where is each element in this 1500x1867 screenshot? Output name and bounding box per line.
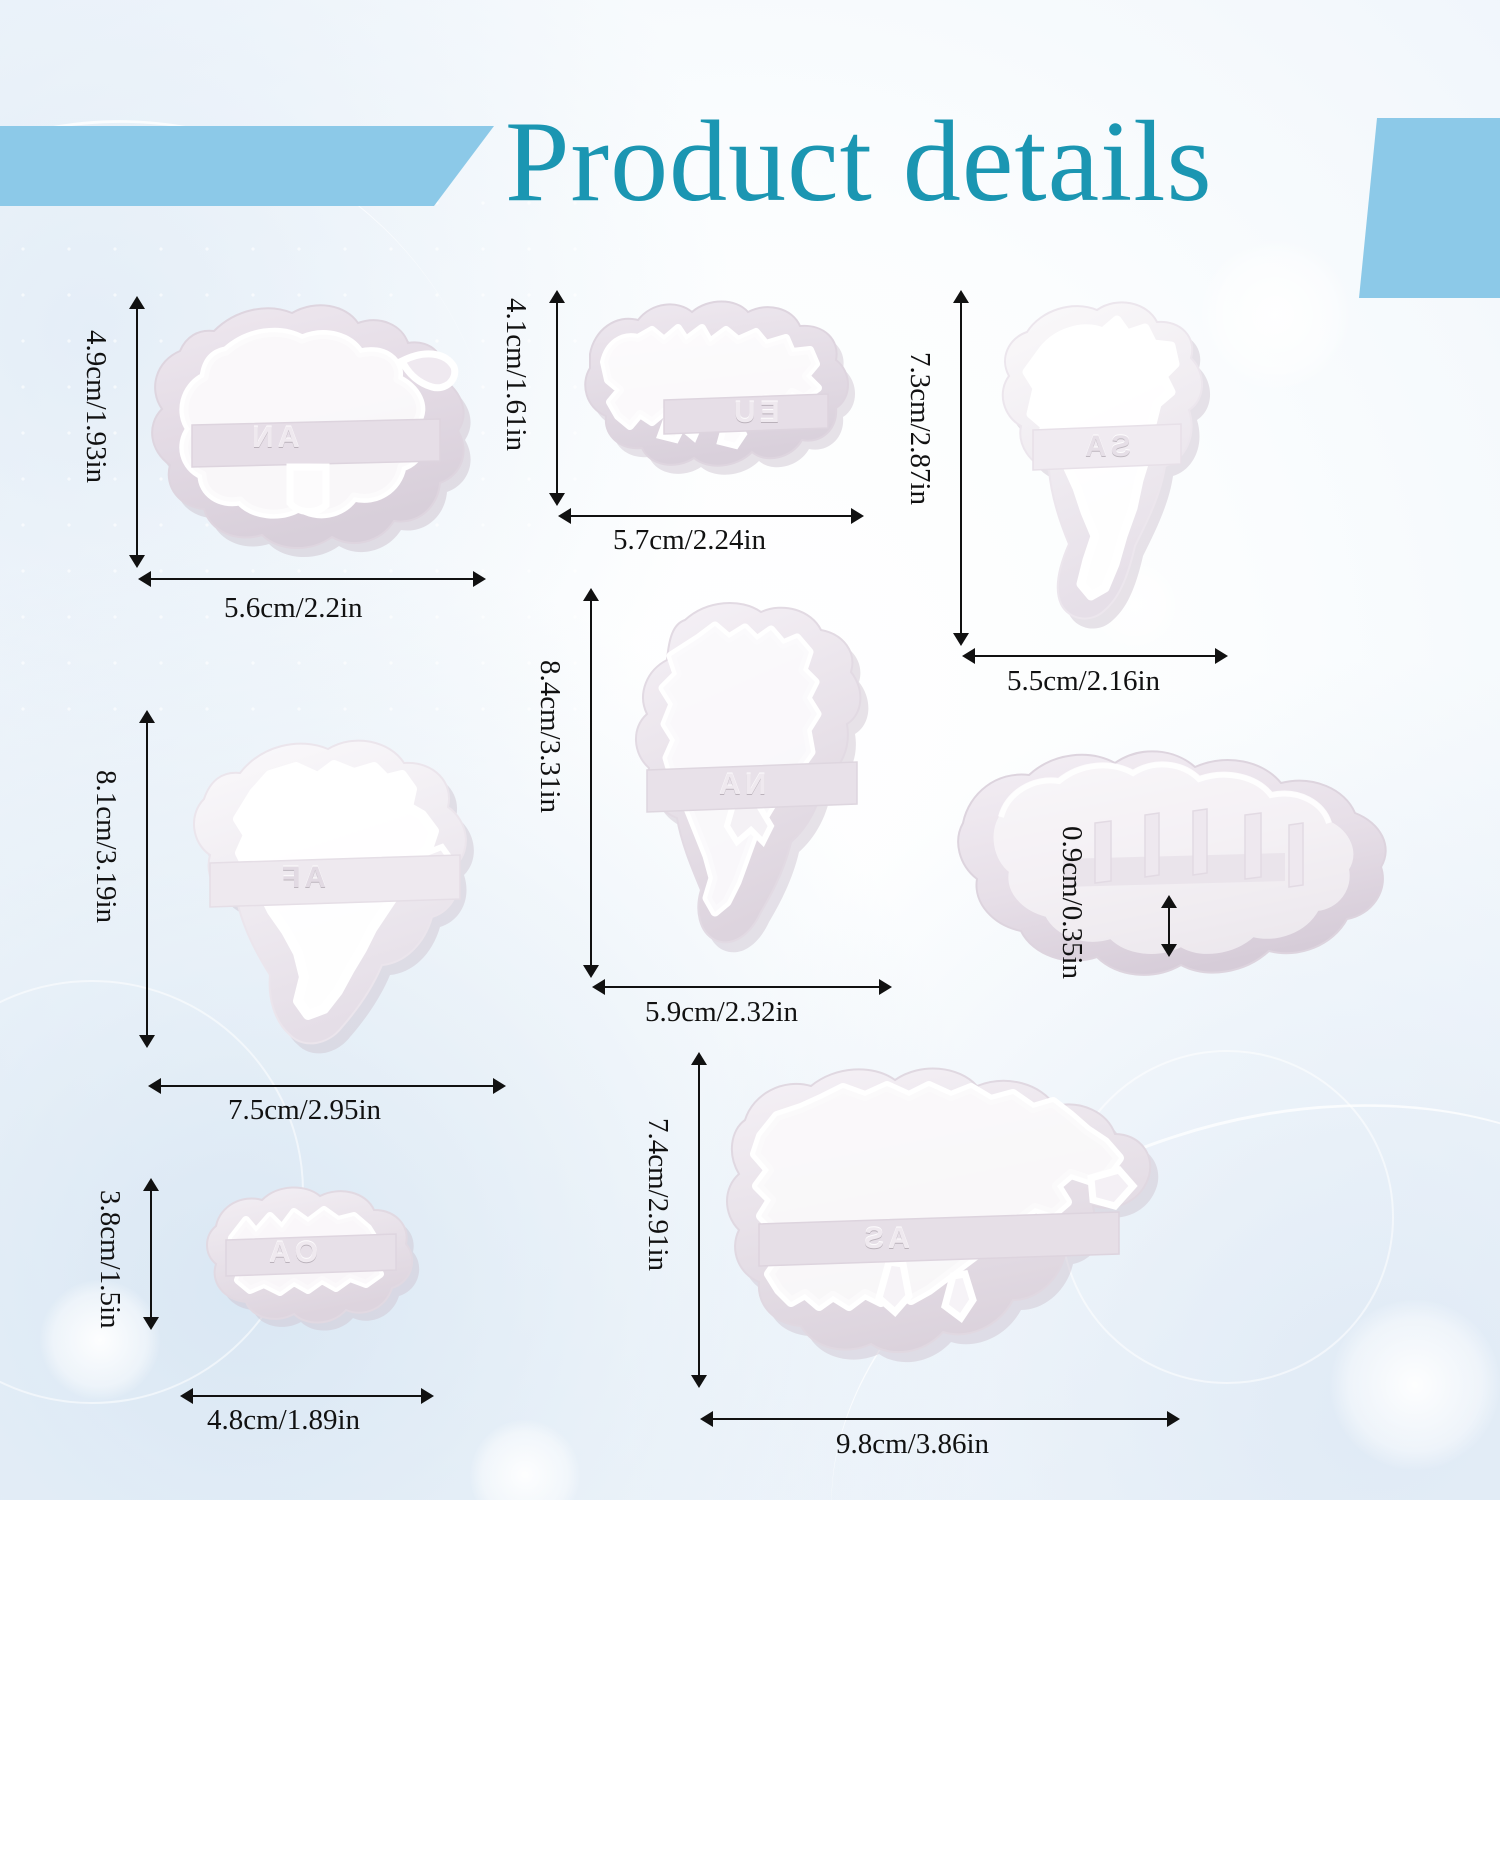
cutter-oceania: OA — [190, 1178, 430, 1333]
header-banner-left — [0, 126, 494, 206]
cutter-africa: AF — [158, 715, 498, 1055]
cutter-north-america: NA — [595, 590, 885, 980]
dim-label-south-america-height: 7.3cm/2.87in — [903, 352, 936, 505]
dim-arrow-asia-height — [688, 1052, 710, 1388]
page-title: Product details — [505, 104, 1405, 220]
dim-arrow-south-america-height — [950, 290, 972, 646]
dim-arrow-north-america-width — [592, 976, 892, 998]
dim-label-asia-width: 9.8cm/3.86in — [836, 1428, 989, 1461]
cutter-europe: EU — [560, 288, 860, 498]
dim-arrow-depth — [1158, 895, 1180, 957]
dim-label-europe-width: 5.7cm/2.24in — [613, 524, 766, 557]
cutter-asia: AS — [715, 1050, 1155, 1390]
dim-arrow-antarctica-height — [126, 296, 148, 568]
dim-label-south-america-width: 5.5cm/2.16in — [1007, 665, 1160, 698]
cutter-south-america: SA — [965, 288, 1225, 638]
dim-label-oceania-width: 4.8cm/1.89in — [207, 1404, 360, 1437]
bokeh-light-4 — [1330, 1300, 1500, 1470]
dim-label-africa-height: 8.1cm/3.19in — [89, 770, 122, 923]
dim-arrow-oceania-height — [140, 1178, 162, 1330]
dim-label-oceania-height: 3.8cm/1.5in — [93, 1190, 126, 1329]
dim-arrow-antarctica-width — [138, 568, 486, 590]
dim-label-depth: 0.9cm/0.35in — [1055, 826, 1088, 979]
dim-label-north-america-width: 5.9cm/2.32in — [645, 996, 798, 1029]
dim-label-europe-height: 4.1cm/1.61in — [499, 298, 532, 451]
dim-label-antarctica-height: 4.9cm/1.93in — [79, 330, 112, 483]
dim-label-africa-width: 7.5cm/2.95in — [228, 1094, 381, 1127]
dim-arrow-africa-height — [136, 710, 158, 1048]
product-details-canvas: Product details AN — [0, 0, 1500, 1500]
bokeh-light-5 — [470, 1420, 580, 1530]
cutter-side-view-depth — [945, 705, 1395, 1025]
cutter-antarctica: AN — [140, 295, 480, 565]
dim-label-north-america-height: 8.4cm/3.31in — [533, 660, 566, 813]
dim-arrow-asia-width — [700, 1408, 1180, 1430]
dim-arrow-europe-height — [546, 290, 568, 506]
dim-arrow-south-america-width — [962, 645, 1228, 667]
dim-label-asia-height: 7.4cm/2.91in — [641, 1118, 674, 1271]
dim-arrow-north-america-height — [580, 588, 602, 978]
dim-label-antarctica-width: 5.6cm/2.2in — [224, 592, 363, 625]
